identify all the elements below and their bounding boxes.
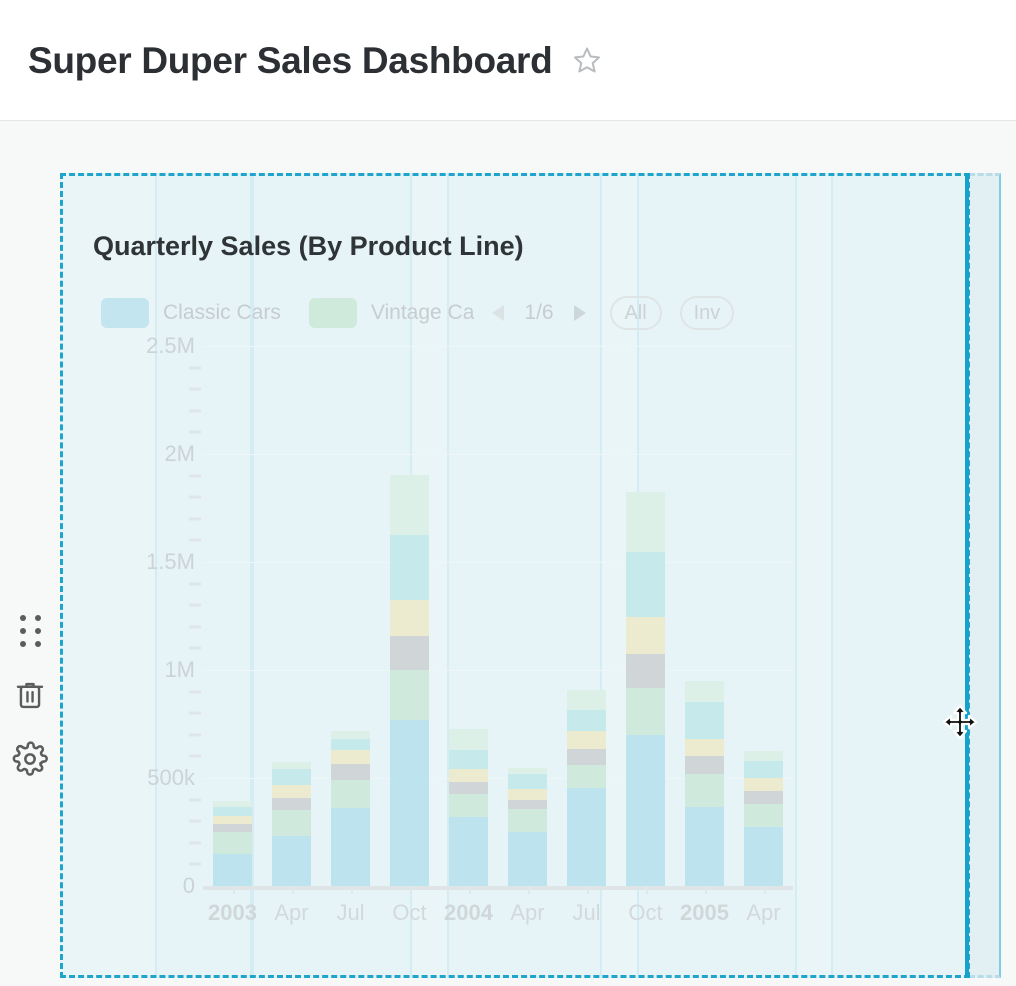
widget-quarterly-sales[interactable]: Quarterly Sales (By Product Line) Classi… [60, 173, 970, 978]
bar-segment[interactable] [685, 681, 724, 701]
bar-segment[interactable] [567, 749, 606, 765]
x-axis-labels: 2003AprJulOct2004AprJulOct2005Apr [203, 894, 793, 936]
bar-segment[interactable] [508, 832, 547, 886]
x-axis-tick-label: 2005 [680, 900, 729, 926]
bar-slot [498, 346, 557, 886]
stacked-bar[interactable] [272, 762, 311, 886]
bar-segment[interactable] [685, 774, 724, 807]
bar-slot [675, 346, 734, 886]
bar-segment[interactable] [685, 756, 724, 774]
bar-segment[interactable] [567, 788, 606, 886]
legend-swatch [309, 298, 357, 328]
bar-segment[interactable] [508, 800, 547, 810]
dashboard-canvas: Quarterly Sales (By Product Line) Classi… [0, 121, 1016, 986]
bar-segment[interactable] [567, 765, 606, 788]
x-axis-minor-tick [646, 886, 648, 894]
x-axis-tick-label: Jul [572, 900, 600, 926]
bar-slot [734, 346, 793, 886]
bar-segment[interactable] [272, 798, 311, 809]
chart-legend: Classic Cars Vintage Ca 1/6 All Inv [101, 296, 734, 330]
stacked-bar[interactable] [508, 768, 547, 886]
bar-segment[interactable] [626, 654, 665, 689]
y-axis-minor-tick [189, 539, 201, 542]
y-axis-minor-tick [189, 733, 201, 736]
bar-slot [439, 346, 498, 886]
x-axis-tick-label: Apr [274, 900, 308, 926]
stacked-bar[interactable] [626, 492, 665, 886]
chart-bars-region [203, 346, 793, 886]
x-axis-tick-label: Jul [336, 900, 364, 926]
x-axis-tick: 2004 [439, 894, 498, 936]
x-axis-minor-tick [705, 886, 707, 894]
stacked-bar[interactable] [567, 690, 606, 886]
bar-segment[interactable] [626, 735, 665, 886]
x-axis-tick-label: Oct [392, 900, 426, 926]
y-axis-tick-label: 500k [147, 765, 195, 791]
bar-segment[interactable] [449, 817, 488, 886]
bar-segment[interactable] [508, 809, 547, 832]
bar-segment[interactable] [390, 720, 429, 886]
bar-segment[interactable] [272, 769, 311, 785]
bar-segment[interactable] [272, 762, 311, 769]
stacked-bar[interactable] [449, 729, 488, 886]
bar-segment[interactable] [626, 552, 665, 617]
bar-segment[interactable] [272, 785, 311, 798]
x-axis-minor-tick [233, 886, 235, 894]
bar-slot [616, 346, 675, 886]
legend-label: Classic Cars [163, 301, 281, 325]
widget-title: Quarterly Sales (By Product Line) [93, 231, 524, 262]
x-axis-tick: Jul [557, 894, 616, 936]
drag-handle-icon[interactable] [10, 611, 50, 651]
bar-segment[interactable] [213, 824, 252, 831]
bar-segment[interactable] [685, 702, 724, 740]
bar-segment[interactable] [567, 731, 606, 749]
y-axis-minor-tick [189, 366, 201, 369]
x-axis-minor-tick [351, 886, 353, 894]
x-axis-minor-tick [528, 886, 530, 894]
bar-segment[interactable] [744, 778, 783, 791]
bar-segment[interactable] [272, 810, 311, 836]
bar-series-container [203, 346, 793, 886]
dashboard-header: Super Duper Sales Dashboard [0, 0, 1016, 121]
y-axis-minor-tick [189, 431, 201, 434]
legend-invert-button[interactable]: Inv [680, 296, 735, 330]
y-axis-minor-tick [189, 625, 201, 628]
legend-label: Vintage Ca [371, 301, 475, 325]
bar-segment[interactable] [390, 535, 429, 600]
y-axis-minor-tick [189, 388, 201, 391]
x-axis-minor-tick [469, 886, 471, 894]
chart-plot-area: 0500k1M1.5M2M2.5M 2003AprJulOct2004AprJu… [93, 346, 793, 946]
x-axis-tick: Apr [734, 894, 793, 936]
bar-segment[interactable] [744, 804, 783, 827]
legend-item-classic-cars[interactable]: Classic Cars [101, 298, 281, 328]
stacked-bar[interactable] [744, 751, 783, 886]
legend-swatch [101, 298, 149, 328]
x-axis-minor-tick [292, 886, 294, 894]
bar-segment[interactable] [331, 780, 370, 808]
bar-segment[interactable] [213, 854, 252, 886]
triangle-right-icon[interactable] [566, 300, 592, 326]
bar-segment[interactable] [331, 750, 370, 764]
bar-slot [203, 346, 262, 886]
x-axis-tick: 2005 [675, 894, 734, 936]
stacked-bar[interactable] [213, 801, 252, 886]
y-axis-minor-tick [189, 712, 201, 715]
widget-resize-edge[interactable] [965, 173, 969, 978]
bar-segment[interactable] [744, 751, 783, 761]
x-axis-minor-tick [410, 886, 412, 894]
y-axis-minor-tick [189, 755, 201, 758]
x-axis-tick: Apr [498, 894, 557, 936]
x-axis-minor-tick [764, 886, 766, 894]
bar-segment[interactable] [390, 670, 429, 720]
x-axis-tick-label: Apr [510, 900, 544, 926]
bar-segment[interactable] [213, 807, 252, 816]
x-axis-tick-label: Oct [628, 900, 662, 926]
stacked-bar[interactable] [685, 681, 724, 886]
bar-segment[interactable] [567, 690, 606, 709]
y-axis-minor-tick [189, 647, 201, 650]
triangle-left-icon[interactable] [486, 300, 512, 326]
bar-segment[interactable] [213, 816, 252, 825]
bar-segment[interactable] [626, 492, 665, 552]
bar-segment[interactable] [744, 827, 783, 886]
y-axis-tick-label: 2M [164, 441, 195, 467]
x-axis-minor-tick [587, 886, 589, 894]
x-axis-tick: Apr [262, 894, 321, 936]
bar-segment[interactable] [685, 739, 724, 755]
star-icon[interactable] [572, 45, 602, 75]
bar-segment[interactable] [390, 475, 429, 535]
bar-segment[interactable] [626, 617, 665, 654]
widget-tool-rail [8, 611, 52, 803]
bar-segment[interactable] [449, 794, 488, 817]
bar-segment[interactable] [685, 807, 724, 886]
widget-drop-ghost [969, 173, 1001, 978]
y-axis-minor-tick [189, 496, 201, 499]
bar-segment[interactable] [744, 791, 783, 804]
x-axis-tick: Jul [321, 894, 380, 936]
bar-segment[interactable] [744, 761, 783, 777]
y-axis-minor-tick [189, 820, 201, 823]
bar-segment[interactable] [508, 774, 547, 789]
x-axis-tick: Oct [616, 894, 675, 936]
bar-slot [380, 346, 439, 886]
bar-segment[interactable] [449, 750, 488, 769]
dashboard-root: Super Duper Sales Dashboard Quarterly Sa… [0, 0, 1016, 986]
bar-segment[interactable] [449, 729, 488, 749]
y-axis-tick-label: 0 [183, 873, 195, 899]
legend-page-indicator: 1/6 [524, 301, 553, 325]
y-axis-minor-tick [189, 409, 201, 412]
x-axis-tick-label: 2003 [208, 900, 257, 926]
y-axis-tick-label: 1.5M [146, 549, 195, 575]
bar-segment[interactable] [449, 769, 488, 783]
legend-all-button[interactable]: All [610, 296, 662, 330]
y-axis-minor-tick [189, 517, 201, 520]
x-axis-tick: Oct [380, 894, 439, 936]
x-axis-tick-label: Apr [746, 900, 780, 926]
bar-segment[interactable] [331, 764, 370, 780]
y-axis-tick-label: 1M [164, 657, 195, 683]
bar-segment[interactable] [508, 789, 547, 800]
stacked-bar[interactable] [331, 731, 370, 886]
y-axis-minor-tick [189, 863, 201, 866]
settings-icon[interactable] [10, 739, 50, 779]
y-axis: 0500k1M1.5M2M2.5M [93, 346, 203, 886]
y-axis-minor-tick [189, 841, 201, 844]
legend-item-vintage-cars[interactable]: Vintage Ca [309, 298, 475, 328]
bar-segment[interactable] [449, 782, 488, 794]
stacked-bar[interactable] [390, 475, 429, 886]
legend-pager: 1/6 [486, 300, 591, 326]
x-axis-tick-label: 2004 [444, 900, 493, 926]
bar-segment[interactable] [390, 636, 429, 670]
bar-segment[interactable] [567, 710, 606, 731]
page-title: Super Duper Sales Dashboard [28, 42, 552, 79]
y-axis-minor-tick [189, 690, 201, 693]
bar-slot [321, 346, 380, 886]
y-axis-minor-tick [189, 798, 201, 801]
bar-segment[interactable] [626, 688, 665, 734]
y-axis-minor-tick [189, 582, 201, 585]
bar-segment[interactable] [331, 731, 370, 739]
y-axis-minor-tick [189, 604, 201, 607]
bar-segment[interactable] [213, 832, 252, 854]
bar-slot [262, 346, 321, 886]
x-axis-tick: 2003 [203, 894, 262, 936]
move-cursor [941, 703, 979, 741]
bar-slot [557, 346, 616, 886]
bar-segment[interactable] [272, 836, 311, 886]
bar-segment[interactable] [331, 739, 370, 750]
bar-segment[interactable] [390, 600, 429, 637]
y-axis-minor-tick [189, 474, 201, 477]
bar-segment[interactable] [331, 808, 370, 886]
y-axis-tick-label: 2.5M [146, 333, 195, 359]
delete-icon[interactable] [10, 675, 50, 715]
